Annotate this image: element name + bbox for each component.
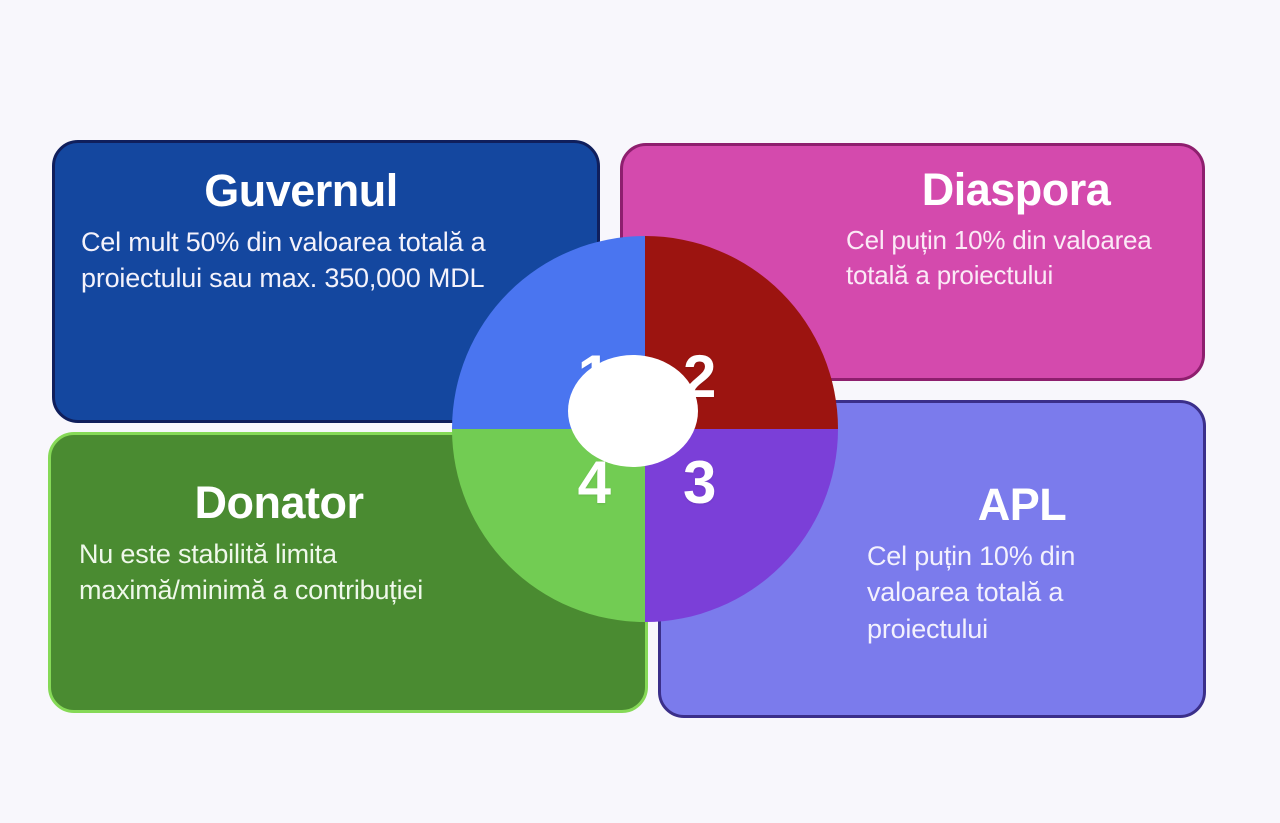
infographic-canvas: Guvernul Cel mult 50% din valoarea total… bbox=[0, 0, 1280, 823]
card-donator[interactable]: Donator Nu este stabilită limita maximă/… bbox=[48, 432, 648, 713]
card-diaspora-body: Cel puțin 10% din valoarea totală a proi… bbox=[846, 223, 1186, 293]
card-apl-title: APL bbox=[867, 481, 1177, 528]
card-donator-body: Nu este stabilită limita maximă/minimă a… bbox=[79, 536, 479, 608]
card-apl-content: APL Cel puțin 10% din valoarea totală a … bbox=[867, 481, 1177, 647]
card-apl[interactable]: APL Cel puțin 10% din valoarea totală a … bbox=[658, 400, 1206, 718]
card-guvernul-body: Cel mult 50% din valoarea totală a proie… bbox=[81, 224, 521, 296]
card-diaspora[interactable]: Diaspora Cel puțin 10% din valoarea tota… bbox=[620, 143, 1205, 381]
card-guvernul-title: Guvernul bbox=[81, 167, 521, 214]
card-donator-title: Donator bbox=[79, 479, 479, 526]
card-guvernul-content: Guvernul Cel mult 50% din valoarea total… bbox=[81, 167, 521, 297]
card-diaspora-title: Diaspora bbox=[846, 166, 1186, 213]
card-diaspora-content: Diaspora Cel puțin 10% din valoarea tota… bbox=[846, 166, 1186, 293]
card-donator-content: Donator Nu este stabilită limita maximă/… bbox=[79, 479, 479, 609]
card-guvernul[interactable]: Guvernul Cel mult 50% din valoarea total… bbox=[52, 140, 600, 423]
card-apl-body: Cel puțin 10% din valoarea totală a proi… bbox=[867, 538, 1177, 647]
